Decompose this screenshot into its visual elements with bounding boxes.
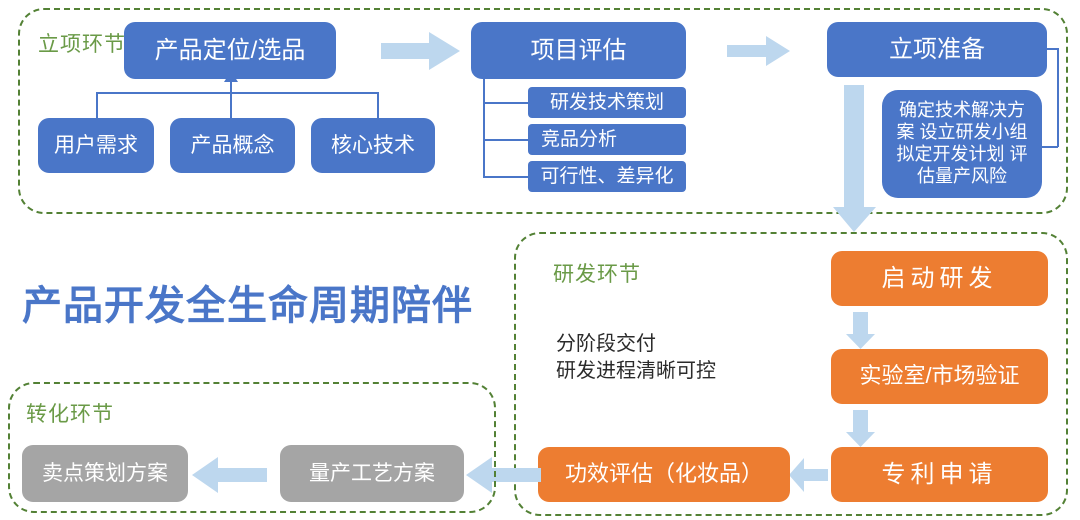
box-competitor-analysis-label: 竞品分析 — [541, 128, 617, 151]
connector-prep-bottom — [1040, 146, 1058, 148]
connector-evaluation-spine — [483, 79, 485, 177]
group-conversion-label: 转化环节 — [26, 398, 114, 428]
rnd-note: 分阶段交付 研发进程清晰可控 — [556, 331, 716, 385]
connector-evaluation-branch-2 — [483, 139, 530, 141]
box-project-evaluation-label: 项目评估 — [531, 36, 627, 65]
box-selling-point-plan-label: 卖点策划方案 — [42, 461, 168, 487]
box-patent-application-label: 专利申请 — [882, 460, 998, 489]
box-feasibility-differentiation[interactable]: 可行性、差异化 — [528, 161, 686, 192]
box-start-rnd-label: 启动研发 — [882, 264, 998, 293]
connector-evaluation-branch-3 — [483, 176, 530, 178]
box-patent-application[interactable]: 专利申请 — [831, 447, 1048, 502]
box-competitor-analysis[interactable]: 竞品分析 — [528, 124, 686, 155]
box-preparation-details-label: 确定技术解决方案 设立研发小组 拟定开发计划 评估量产风险 — [882, 92, 1042, 196]
box-lab-market-validation[interactable]: 实验室/市场验证 — [831, 349, 1048, 404]
arrow-preparation-to-rnd — [833, 85, 877, 233]
box-rnd-tech-planning-label: 研发技术策划 — [550, 91, 664, 114]
box-product-concept-label: 产品概念 — [191, 133, 275, 159]
box-efficacy-evaluation[interactable]: 功效评估（化妆品） — [538, 447, 790, 502]
arrow-start-to-validation — [846, 312, 876, 350]
arrow-validation-to-patent — [846, 410, 876, 448]
group-rnd-label: 研发环节 — [553, 258, 641, 288]
box-start-rnd[interactable]: 启动研发 — [831, 251, 1048, 306]
connector-prep-vertical — [1057, 48, 1059, 147]
connector-input-left-riser — [96, 92, 98, 119]
connector-evaluation-branch-1 — [483, 102, 530, 104]
arrow-mass-production-to-selling-point — [192, 457, 268, 493]
box-lab-market-validation-label: 实验室/市场验证 — [859, 363, 1019, 390]
box-efficacy-evaluation-label: 功效评估（化妆品） — [565, 461, 763, 488]
box-core-technology[interactable]: 核心技术 — [311, 118, 435, 173]
page-title: 产品开发全生命周期陪伴 — [22, 273, 473, 331]
box-core-technology-label: 核心技术 — [331, 133, 415, 159]
box-project-preparation[interactable]: 立项准备 — [827, 22, 1047, 77]
arrow-patent-to-efficacy — [789, 458, 829, 492]
arrow-positioning-to-evaluation — [381, 32, 461, 70]
box-product-concept[interactable]: 产品概念 — [170, 118, 295, 173]
box-preparation-details[interactable]: 确定技术解决方案 设立研发小组 拟定开发计划 评估量产风险 — [882, 90, 1042, 198]
box-project-evaluation[interactable]: 项目评估 — [471, 22, 686, 79]
box-user-demand-label: 用户需求 — [54, 133, 138, 159]
box-rnd-tech-planning[interactable]: 研发技术策划 — [528, 87, 686, 118]
box-user-demand[interactable]: 用户需求 — [38, 118, 154, 173]
connector-input-right-riser — [377, 92, 379, 119]
box-selling-point-plan[interactable]: 卖点策划方案 — [22, 445, 188, 502]
connector-inputs-horizontal — [96, 92, 378, 94]
box-product-positioning-label: 产品定位/选品 — [155, 36, 306, 65]
group-initiation-label: 立项环节 — [38, 28, 126, 58]
connector-input-center-riser — [230, 79, 232, 119]
box-mass-production-process-label: 量产工艺方案 — [309, 461, 435, 487]
box-feasibility-differentiation-label: 可行性、差异化 — [540, 165, 673, 188]
box-project-preparation-label: 立项准备 — [889, 35, 985, 64]
box-product-positioning[interactable]: 产品定位/选品 — [124, 22, 336, 79]
box-mass-production-process[interactable]: 量产工艺方案 — [280, 445, 464, 502]
arrow-evaluation-to-preparation — [727, 36, 791, 66]
diagram-canvas: 立项环节 产品定位/选品 用户需求 产品概念 核心技术 项目评估 研发技术策划 … — [0, 0, 1080, 520]
